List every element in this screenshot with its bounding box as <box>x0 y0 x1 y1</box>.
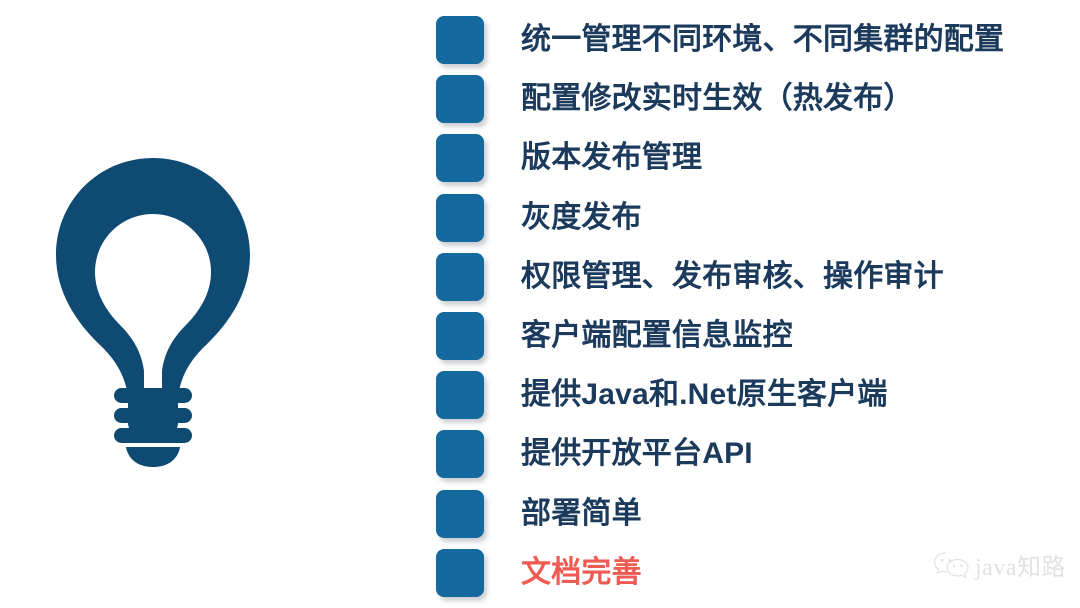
bulb-base-band <box>114 388 192 403</box>
list-item[interactable]: 部署简单 <box>436 490 1080 538</box>
list-item-label: 客户端配置信息监控 <box>521 312 793 360</box>
bullet-list: 统一管理不同环境、不同集群的配置 配置修改实时生效（热发布） 版本发布管理 灰度… <box>436 0 1080 608</box>
rounded-square-bullet-icon <box>436 253 484 301</box>
list-item[interactable]: 客户端配置信息监控 <box>436 312 1080 360</box>
list-item[interactable]: 权限管理、发布审核、操作审计 <box>436 253 1080 301</box>
rounded-square-bullet-icon <box>436 75 484 123</box>
illustration-panel <box>0 0 430 608</box>
rounded-square-bullet-icon <box>436 430 484 478</box>
rounded-square-bullet-icon <box>436 490 484 538</box>
list-item[interactable]: 文档完善 <box>436 549 1080 597</box>
rounded-square-bullet-icon <box>436 312 484 360</box>
bulb-base-band <box>114 408 192 423</box>
list-item-label: 统一管理不同环境、不同集群的配置 <box>521 16 1004 64</box>
list-item[interactable]: 统一管理不同环境、不同集群的配置 <box>436 16 1080 64</box>
list-item-label: 文档完善 <box>521 549 642 597</box>
list-item-label: 灰度发布 <box>521 194 642 242</box>
list-item[interactable]: 版本发布管理 <box>436 134 1080 182</box>
list-item-label: 提供开放平台API <box>521 430 753 478</box>
list-item-label: 提供Java和.Net原生客户端 <box>521 371 888 419</box>
list-item[interactable]: 配置修改实时生效（热发布） <box>436 75 1080 123</box>
rounded-square-bullet-icon <box>436 134 484 182</box>
lightbulb-icon <box>38 140 268 470</box>
list-item[interactable]: 提供开放平台API <box>436 430 1080 478</box>
rounded-square-bullet-icon <box>436 549 484 597</box>
rounded-square-bullet-icon <box>436 194 484 242</box>
rounded-square-bullet-icon <box>436 371 484 419</box>
list-item-label: 版本发布管理 <box>521 134 702 182</box>
bulb-base-band <box>114 428 192 443</box>
list-item-label: 权限管理、发布审核、操作审计 <box>521 253 944 301</box>
list-item-label: 部署简单 <box>521 490 642 538</box>
list-item-label: 配置修改实时生效（热发布） <box>521 75 914 123</box>
rounded-square-bullet-icon <box>436 16 484 64</box>
bulb-base-tip <box>126 447 180 467</box>
list-item[interactable]: 灰度发布 <box>436 194 1080 242</box>
slide-canvas: 统一管理不同环境、不同集群的配置 配置修改实时生效（热发布） 版本发布管理 灰度… <box>0 0 1080 608</box>
list-item[interactable]: 提供Java和.Net原生客户端 <box>436 371 1080 419</box>
